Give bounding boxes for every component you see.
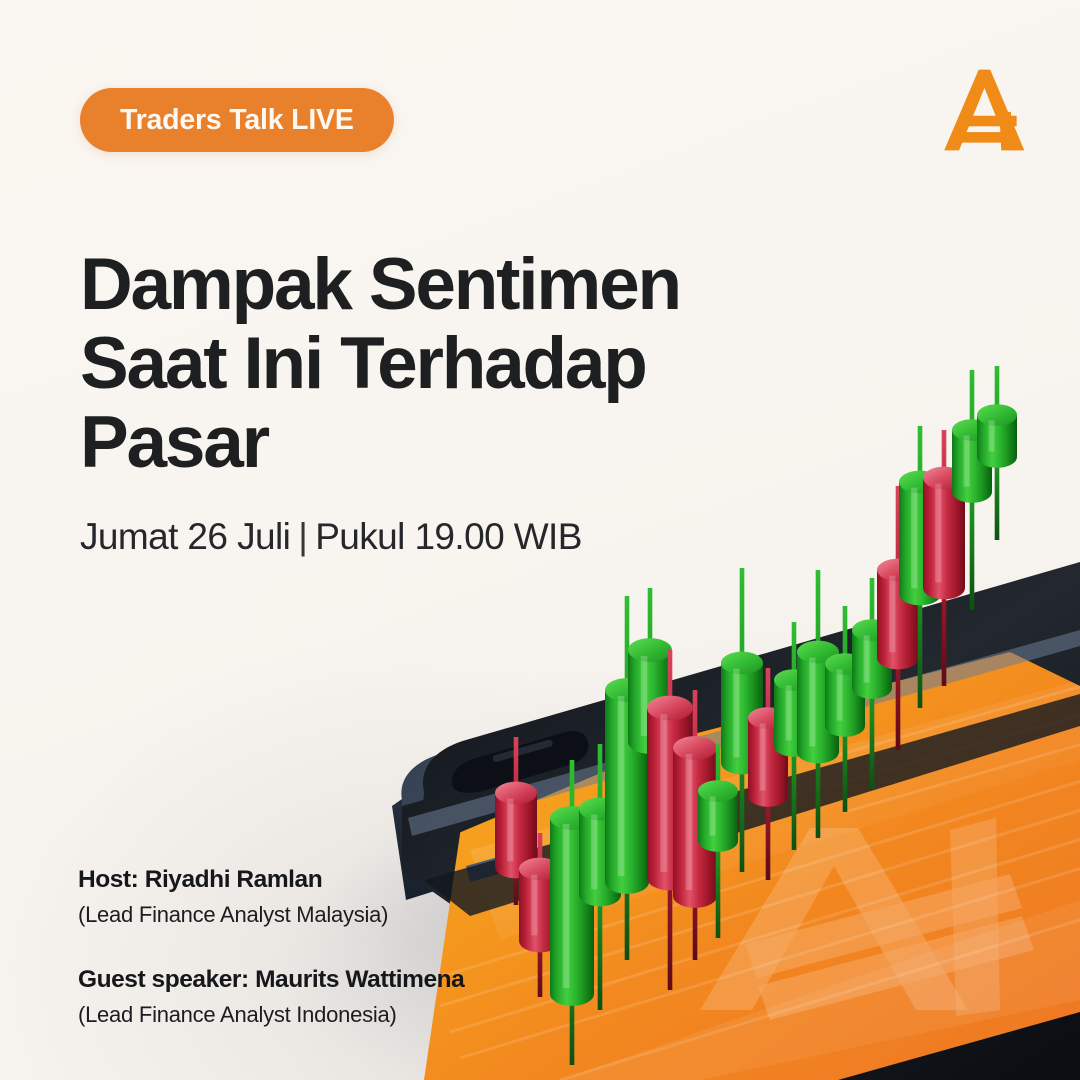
candle-body: [899, 482, 941, 605]
candle-body: [748, 718, 788, 807]
candle-body: [550, 818, 594, 1006]
candle-highlight: [641, 656, 648, 736]
candle-body: [673, 748, 717, 908]
candle-highlight: [989, 420, 995, 451]
candle-wick: [995, 366, 1000, 540]
candlestick-3-bullish: [550, 760, 594, 1065]
candle-highlight: [507, 799, 513, 862]
candle-body: [952, 430, 992, 503]
candlestick-5-bullish: [605, 596, 649, 960]
candlestick-15-bullish: [852, 578, 892, 790]
phone-notch: [452, 731, 588, 793]
candle-wick: [693, 690, 698, 960]
candle-wick: [970, 370, 975, 610]
candlestick-14-bullish: [825, 606, 865, 812]
poster-canvas: Traders Talk LIVE Dampak Sentimen Saat I…: [0, 0, 1080, 1080]
candle-top-cap: [550, 806, 594, 830]
ascendex-a-logo-icon: [936, 62, 1032, 158]
candlestick-1-bearish: [495, 737, 537, 905]
candle-wick: [870, 578, 875, 790]
candle-body: [698, 791, 738, 852]
candle-body: [852, 630, 892, 699]
headline-line-1: Dampak Sentimen: [80, 245, 840, 324]
candle-highlight: [563, 824, 570, 988]
headline-line-2: Saat Ini Terhadap: [80, 324, 840, 403]
screen-sheen: [470, 680, 1080, 940]
candle-highlight: [911, 488, 917, 589]
candle-wick: [843, 606, 848, 812]
candlestick-19-bullish: [952, 370, 992, 610]
screen-watermark-logo: [700, 818, 1034, 1020]
headline-line-3: Pasar: [80, 403, 840, 482]
candle-highlight: [935, 484, 941, 583]
candlestick-2-bearish: [519, 833, 561, 997]
candle-wick: [538, 833, 543, 997]
traders-talk-live-badge[interactable]: Traders Talk LIVE: [80, 88, 394, 152]
candle-top-cap: [952, 419, 992, 441]
candle-highlight: [964, 435, 970, 486]
phone-bezel: [423, 562, 1080, 1080]
candle-body: [977, 415, 1017, 468]
phone-frame: [401, 574, 1080, 859]
candle-top-cap: [605, 678, 649, 702]
event-date: Jumat 26 Juli: [80, 516, 290, 557]
candle-wick: [918, 426, 923, 708]
candle-highlight: [760, 723, 766, 790]
phone-body: [402, 616, 1080, 1080]
candle-highlight: [809, 658, 815, 747]
candle-highlight: [531, 875, 537, 936]
candlestick-13-bullish: [797, 570, 839, 838]
candle-highlight: [786, 685, 792, 740]
candlestick-8-bearish: [673, 690, 717, 960]
candle-body: [647, 708, 693, 890]
candle-highlight: [733, 669, 739, 758]
event-schedule: Jumat 26 Juli|Pukul 19.00 WIB: [80, 516, 582, 558]
candle-top-cap: [748, 707, 788, 729]
candlestick-20-bullish: [977, 366, 1017, 540]
schedule-separator: |: [290, 516, 315, 557]
candle-body: [579, 809, 621, 906]
host-role: (Lead Finance Analyst Malaysia): [78, 902, 464, 928]
candle-top-cap: [774, 669, 814, 691]
candle-body: [605, 690, 649, 894]
candle-top-cap: [519, 858, 561, 881]
candlestick-9-bullish: [698, 744, 738, 938]
guest-name: Guest speaker: Maurits Wattimena: [78, 966, 464, 995]
candlestick-12-bullish: [774, 622, 814, 850]
candle-top-cap: [852, 619, 892, 641]
candle-wick: [668, 650, 673, 990]
candle-highlight: [618, 696, 625, 876]
guest-credit: Guest speaker: Maurits Wattimena (Lead F…: [78, 966, 464, 1028]
candle-highlight: [837, 669, 843, 720]
candle-top-cap: [877, 559, 919, 582]
host-name: Host: Riyadhi Ramlan: [78, 866, 464, 895]
candle-wick: [816, 570, 821, 838]
candle-wick: [766, 668, 771, 880]
page-title: Dampak Sentimen Saat Ini Terhadap Pasar: [80, 245, 840, 483]
candlestick-17-bullish: [899, 426, 941, 708]
guest-role: (Lead Finance Analyst Indonesia): [78, 1002, 464, 1028]
candle-highlight: [710, 796, 716, 835]
candle-top-cap: [673, 736, 717, 760]
candle-wick: [625, 596, 630, 960]
candle-top-cap: [825, 653, 865, 675]
event-time: Pukul 19.00 WIB: [315, 516, 582, 557]
candle-body: [825, 664, 865, 737]
candle-wick: [514, 737, 519, 905]
phone-earpiece: [492, 739, 554, 763]
speaker-credits: Host: Riyadhi Ramlan (Lead Finance Analy…: [78, 866, 464, 1028]
candle-wick: [896, 486, 901, 750]
candle-wick: [942, 430, 947, 686]
candle-wick: [792, 622, 797, 850]
candle-wick: [648, 588, 653, 832]
candlestick-10-bullish: [721, 568, 763, 872]
phone-bottom-edge: [424, 694, 1080, 916]
candle-wick: [598, 744, 603, 1010]
screen-sheen-2: [560, 900, 1080, 1080]
candlestick-7-bearish: [647, 650, 693, 990]
phone-chamfer-highlight: [408, 630, 1080, 836]
candlestick-6-bullish: [628, 588, 672, 832]
candle-wick: [570, 760, 575, 1065]
candle-top-cap: [721, 652, 763, 675]
host-credit: Host: Riyadhi Ramlan (Lead Finance Analy…: [78, 866, 464, 928]
candle-highlight: [889, 576, 895, 653]
candle-body: [923, 478, 965, 599]
candle-body: [877, 570, 919, 669]
candle-top-cap: [579, 798, 621, 821]
candlestick-16-bearish: [877, 486, 919, 750]
candle-top-cap: [628, 638, 672, 662]
badge-label: Traders Talk LIVE: [120, 104, 354, 137]
candle-highlight: [864, 635, 870, 682]
phone-side-button: [466, 851, 524, 882]
candle-wick: [716, 744, 721, 938]
candle-top-cap: [797, 641, 839, 664]
candle-wick: [740, 568, 745, 872]
candle-body: [628, 650, 672, 754]
candle-top-cap: [899, 471, 941, 494]
candlestick-18-bearish: [923, 430, 965, 686]
candlestick-4-bullish: [579, 744, 621, 1010]
candle-body: [495, 793, 537, 878]
candle-body: [721, 663, 763, 774]
candle-top-cap: [647, 696, 693, 721]
candle-top-cap: [495, 782, 537, 805]
candle-highlight: [591, 815, 597, 890]
screen-hairlines: [430, 664, 1080, 1080]
candle-body: [774, 680, 814, 757]
candle-top-cap: [698, 780, 738, 802]
candle-body: [797, 652, 839, 763]
candle-top-cap: [977, 404, 1017, 426]
candlestick-11-bearish: [748, 668, 788, 880]
candle-highlight: [686, 754, 693, 890]
candle-highlight: [660, 714, 667, 872]
phone-side-face: [392, 612, 1080, 900]
candle-top-cap: [923, 467, 965, 490]
candle-body: [519, 869, 561, 952]
